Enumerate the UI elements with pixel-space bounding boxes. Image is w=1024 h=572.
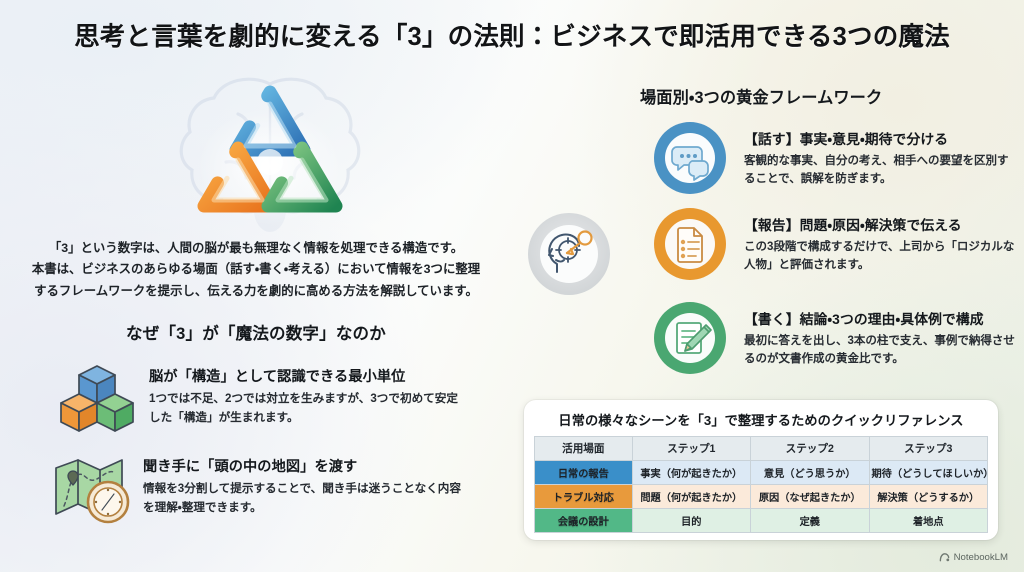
quick-reference-card: 日常の様々なシーンを「3」で整理するためのクイックリファレンス 活用場面 ステッ…	[524, 400, 998, 540]
why-heading: なぜ「3」が「魔法の数字」なのか	[22, 320, 490, 344]
table-header-cell: ステップ3	[869, 437, 988, 461]
table-header-cell: ステップ1	[632, 437, 750, 461]
table-row: 日常の報告 事実（何が起きたか） 意見（どう思うか） 期待（どうしてほしいか）	[535, 461, 988, 485]
head-profile-target-icon	[519, 206, 619, 302]
table-cell: 問題（何が起きたか）	[632, 485, 750, 509]
table-cell: 期待（どうしてほしいか）	[869, 461, 988, 485]
framework-desc: この3段階で構成するだけで、上司から「ロジカルな人物」と評価されます。	[744, 238, 1016, 274]
left-bullet-item: 脳が「構造」として認識できる最小単位 1つでは不足、2つでは対立を生みますが、3…	[58, 362, 528, 434]
map-compass-icon	[52, 452, 130, 524]
document-pencil-icon	[650, 298, 730, 378]
table-cell: 原因（なぜ起きたか）	[751, 485, 869, 509]
row-label: 会議の設計	[535, 509, 633, 533]
notebooklm-watermark: NotebookLM	[939, 552, 1008, 563]
framework-item: 【報告】問題・原因・解決策で伝える この3段階で構成するだけで、上司から「ロジカ…	[650, 204, 1024, 284]
table-cell: 事実（何が起きたか）	[632, 461, 750, 485]
framework-desc: 客観的な事実、自分の考え、相手への要望を区別することで、誤解を防ぎます。	[744, 152, 1016, 188]
quick-reference-table: 活用場面 ステップ1 ステップ2 ステップ3 日常の報告 事実（何が起きたか） …	[534, 436, 988, 533]
three-cubes-icon	[58, 362, 136, 434]
row-label: 日常の報告	[535, 461, 633, 485]
document-list-icon	[650, 204, 730, 284]
framework-desc: 最初に答えを出し、3本の柱で支え、事例で納得させるのが文書作成の黄金比です。	[744, 332, 1016, 368]
table-cell: 定義	[751, 509, 869, 533]
framework-item: 【話す】事実・意見・期待で分ける 客観的な事実、自分の考え、相手への要望を区別す…	[650, 118, 1024, 198]
lead-paragraph: 「3」という数字は、人間の脳が最も無理なく情報を処理できる構造です。 本書は、ビ…	[22, 238, 490, 302]
left-bullet-item: 聞き手に「頭の中の地図」を渡す 情報を3分割して提示することで、聞き手は迷うこと…	[52, 452, 522, 524]
notebooklm-label: NotebookLM	[954, 552, 1008, 563]
framework-title: 【報告】問題・原因・解決策で伝える	[744, 214, 1016, 234]
table-header-row: 活用場面 ステップ1 ステップ2 ステップ3	[535, 437, 988, 461]
table-header-cell: ステップ2	[751, 437, 869, 461]
table-cell: 意見（どう思うか）	[751, 461, 869, 485]
infographic-canvas: 思考と言葉を劇的に変える「3」の法則：ビジネスで即活用できる3つの魔法	[0, 0, 1024, 572]
table-row: 会議の設計 目的 定義 着地点	[535, 509, 988, 533]
brain-triangles-logo	[152, 62, 388, 242]
notebooklm-icon	[939, 552, 950, 563]
framework-heading: 場面別・3つの黄金フレームワーク	[640, 84, 882, 108]
table-row: トラブル対応 問題（何が起きたか） 原因（なぜ起きたか） 解決策（どうするか）	[535, 485, 988, 509]
framework-title: 【話す】事実・意見・期待で分ける	[744, 128, 1016, 148]
left-bullet-title: 聞き手に「頭の中の地図」を渡す	[143, 456, 463, 476]
lead-line: するフレームワークを提示し、伝える力を劇的に高める方法を解説しています。	[22, 281, 490, 302]
left-bullet-desc: 1つでは不足、2つでは対立を生みますが、3つで初めて安定した「構造」が生まれます…	[149, 390, 469, 427]
table-header-cell: 活用場面	[535, 437, 633, 461]
framework-item: 【書く】結論・3つの理由・具体例で構成 最初に答えを出し、3本の柱で支え、事例で…	[650, 298, 1024, 378]
quick-reference-title: 日常の様々なシーンを「3」で整理するためのクイックリファレンス	[534, 410, 988, 429]
lead-line: 本書は、ビジネスのあらゆる場面（話す・書く・考える）において情報を3つに整理	[22, 259, 490, 280]
lead-line: 「3」という数字は、人間の脳が最も無理なく情報を処理できる構造です。	[22, 238, 490, 259]
table-cell: 目的	[632, 509, 750, 533]
table-cell: 解決策（どうするか）	[869, 485, 988, 509]
left-bullet-desc: 情報を3分割して提示することで、聞き手は迷うことなく内容を理解・整理できます。	[143, 480, 463, 517]
table-cell: 着地点	[869, 509, 988, 533]
framework-title: 【書く】結論・3つの理由・具体例で構成	[744, 308, 1016, 328]
left-bullet-title: 脳が「構造」として認識できる最小単位	[149, 366, 469, 386]
speech-bubbles-icon	[650, 118, 730, 198]
row-label: トラブル対応	[535, 485, 633, 509]
page-title: 思考と言葉を劇的に変える「3」の法則：ビジネスで即活用できる3つの魔法	[0, 16, 1024, 53]
